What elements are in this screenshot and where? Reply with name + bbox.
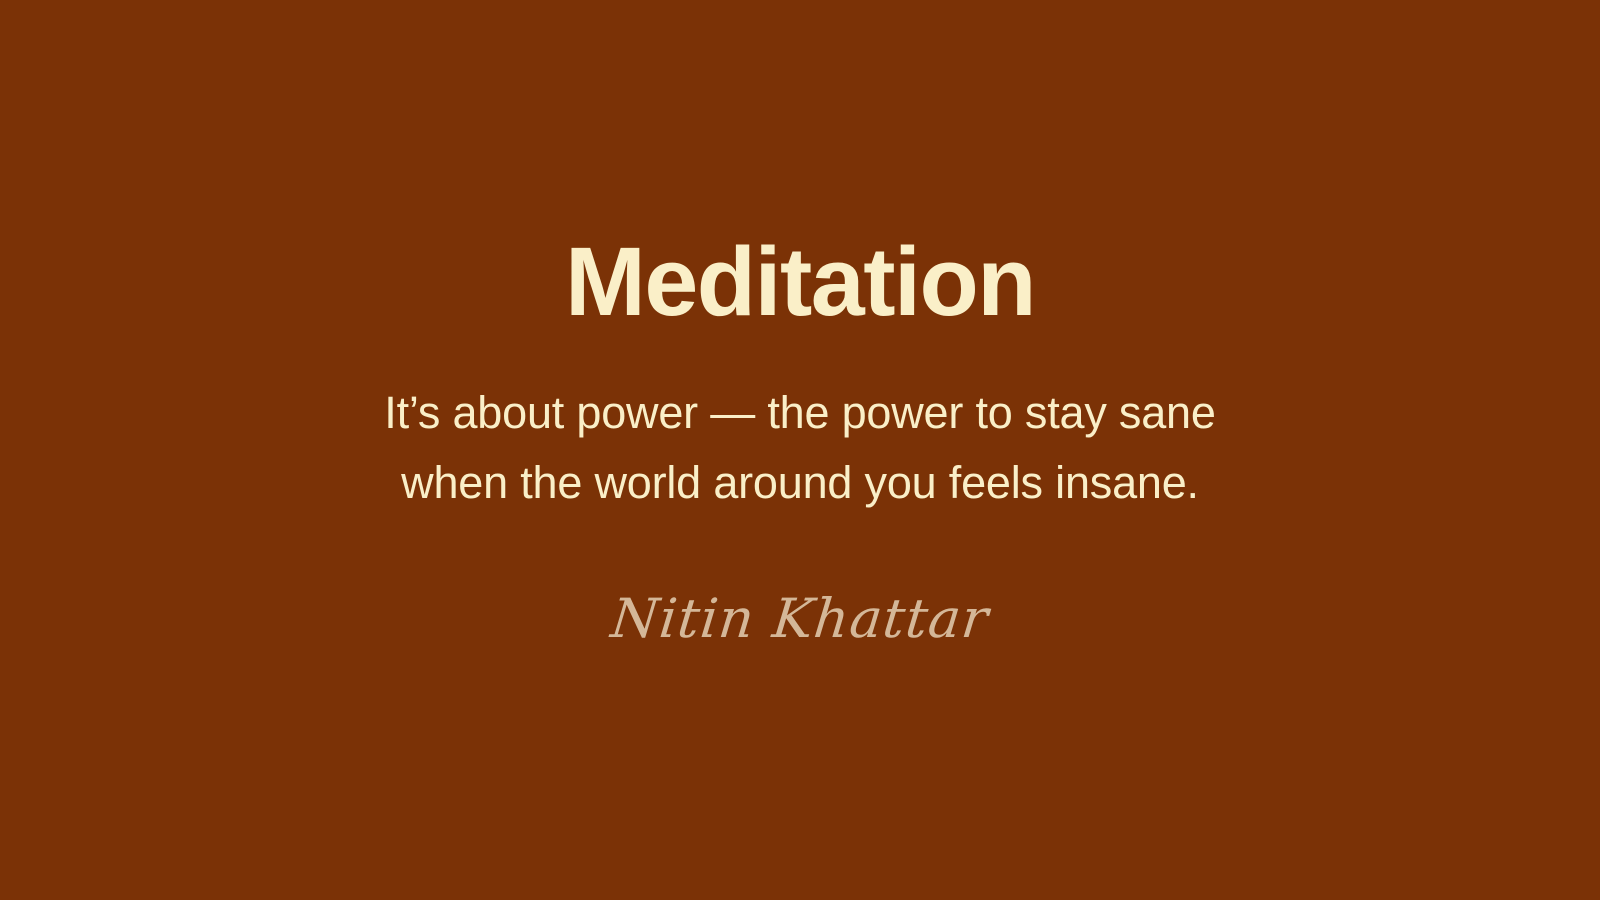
quote-text: It’s about power — the power to stay san… — [240, 378, 1360, 518]
page-title: Meditation — [0, 233, 1600, 330]
quote-line-1: It’s about power — the power to stay san… — [240, 378, 1360, 448]
quote-line-2: when the world around you feels insane. — [240, 448, 1360, 518]
quote-card: Meditation It’s about power — the power … — [0, 0, 1600, 900]
author-signature: Nitin Khattar — [0, 592, 1600, 646]
